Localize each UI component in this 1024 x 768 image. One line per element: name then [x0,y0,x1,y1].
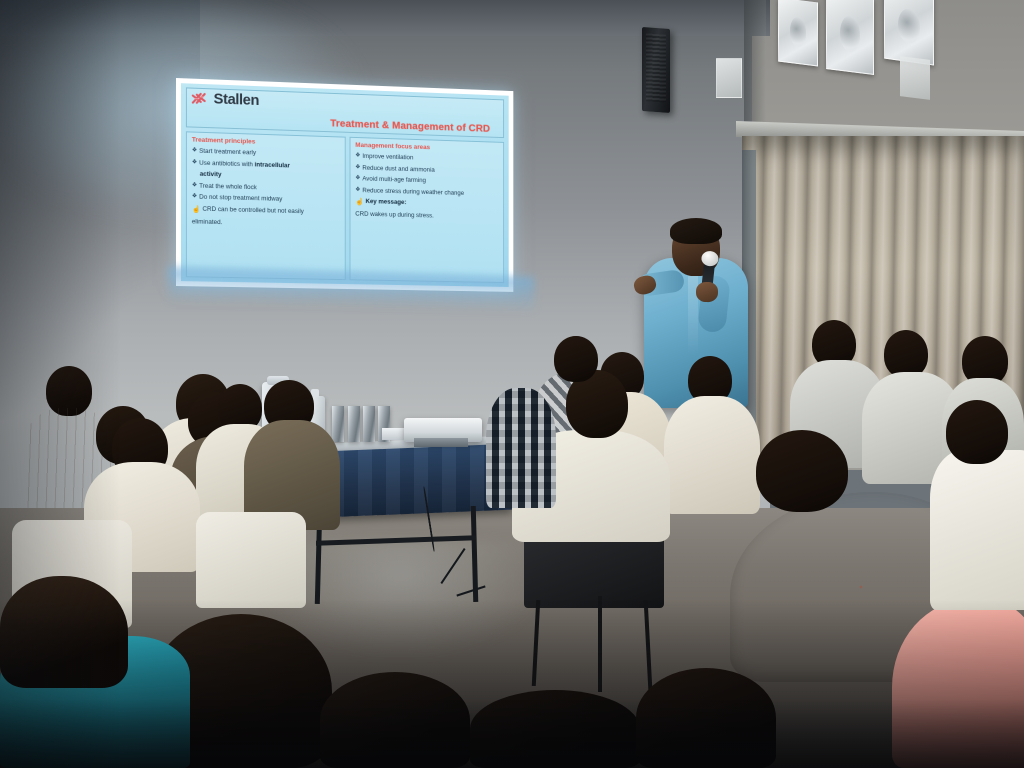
bullet-item: ❖ Start treatment early [192,148,341,161]
audience-torso [664,396,760,514]
slide-surface: Stallen Treatment & Management of CRD Tr… [181,83,509,287]
diamond-bullet-icon: ❖ [355,164,360,172]
bullet-bold-text: intracellular [255,161,290,169]
presentation-photo-scene: Stallen Treatment & Management of CRD Tr… [0,0,1024,768]
diamond-bullet-icon: ❖ [355,153,360,161]
pointing-hand-icon: ☝ [355,198,363,207]
ceiling-diffuser-icon [826,0,874,75]
product-box-icon [332,406,344,442]
wall-control-box [900,56,930,100]
bullet-text: Avoid multi-age farming [362,176,426,186]
diamond-bullet-icon: ❖ [192,159,197,167]
column-speaker-icon [642,27,670,113]
left-column-closing: eliminated. [192,218,341,230]
diamond-bullet-icon: ❖ [192,148,197,156]
bullet-text: Reduce dust and ammonia [362,164,434,174]
slide-header: Stallen Treatment & Management of CRD [186,87,504,138]
diamond-bullet-icon: ❖ [192,194,197,202]
bullet-continuation: activity [192,171,341,183]
product-box-icon [348,406,360,442]
bullet-item: ❖ Avoid multi-age farming [355,175,499,187]
bullet-item: ❖ Reduce dust and ammonia [355,164,499,176]
right-column-closing: CRD wakes up during stress. [355,211,499,222]
audience-head [946,400,1008,464]
diamond-bullet-icon: ❖ [192,182,197,190]
audience-head [554,336,598,382]
bullet-text: Treat the whole flock [199,182,257,192]
product-carton-icon [382,428,406,440]
audience-torso [486,388,556,508]
bullet-text: Improve ventilation [362,153,413,162]
bullet-item: ❖ Do not stop treatment midway [192,194,341,206]
diamond-bullet-icon: ❖ [355,187,360,195]
bullet-text: Reduce stress during weather change [362,187,464,198]
bullet-text: CRD can be controlled but not easily [202,206,303,217]
slide-right-column: Management focus areas ❖ Improve ventila… [350,137,505,283]
ceiling-diffuser-icon [778,0,818,66]
slide-left-column: Treatment principles ❖ Start treatment e… [186,131,346,280]
audience-head [884,330,928,378]
left-vignette [0,0,120,768]
projection-screen: Stallen Treatment & Management of CRD Tr… [176,78,513,292]
right-column-heading: Management focus areas [355,142,499,154]
bullet-text: Start treatment early [199,148,256,158]
wall-control-box [716,58,742,98]
audience-torso [930,450,1024,610]
presenter-hair [670,218,722,244]
ceiling-diffuser-icon [884,0,934,66]
bullet-item: ❖ Treat the whole flock [192,182,341,194]
left-column-heading: Treatment principles [192,137,341,149]
bottom-vignette [0,700,1024,768]
chair-back [196,512,306,608]
key-message-label: Key message: [366,198,407,207]
slide-title: Treatment & Management of CRD [330,117,490,134]
bullet-item-highlight: ☝ CRD can be controlled but not easily [192,205,341,218]
bullet-bold-text: activity [200,171,222,180]
bullet-item: ❖ Use antibiotics with intracellular [192,159,341,171]
brand-name: Stallen [214,91,259,108]
diamond-bullet-icon: ❖ [355,175,360,183]
bullet-item: ❖ Improve ventilation [355,153,499,165]
projector-icon [404,418,482,442]
bullet-text: Do not stop treatment midway [199,194,282,204]
product-box-icon [363,406,375,442]
dna-helix-icon [191,92,211,106]
key-message-item: ☝ Key message: [355,198,499,211]
presenter-right-hand [696,282,718,302]
pointing-hand-icon: ☝ [192,205,201,214]
audience-head [756,430,848,512]
bullet-item: ❖ Reduce stress during weather change [355,187,499,199]
bullet-text: Use antibiotics with [199,159,254,168]
